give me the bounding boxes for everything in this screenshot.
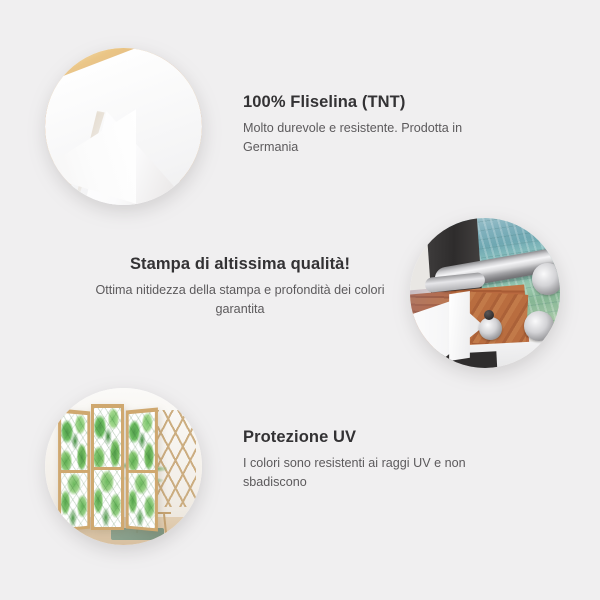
feature-text-fliselina: 100% Fliselina (TNT) Molto durevole e re… bbox=[243, 93, 503, 157]
feature-body: I colori sono resistenti ai raggi UV e n… bbox=[243, 454, 503, 492]
screen-panel-3 bbox=[125, 407, 158, 531]
roller-disc-center bbox=[479, 317, 502, 340]
folding-screen bbox=[58, 404, 158, 530]
roller-disc-bottom bbox=[524, 311, 554, 341]
paper-fold bbox=[449, 291, 470, 361]
feature-list: 100% Fliselina (TNT) Molto durevole e re… bbox=[0, 0, 600, 600]
press-knob bbox=[484, 310, 495, 321]
panel-divider bbox=[94, 467, 121, 470]
feature-heading: Stampa di altissima qualità! bbox=[95, 255, 385, 274]
feature-text-protezione-uv: Protezione UV I colori sono resistenti a… bbox=[243, 428, 503, 492]
roller-disc-top bbox=[532, 263, 561, 295]
screen-panel-2 bbox=[91, 404, 124, 530]
feature-body: Ottima nitidezza della stampa e profondi… bbox=[95, 281, 385, 319]
feature-body: Molto durevole e resistente. Prodotta in… bbox=[243, 119, 503, 157]
feature-image-stampa-qualita bbox=[410, 218, 560, 368]
panel-divider bbox=[61, 470, 88, 473]
feature-text-stampa-qualita: Stampa di altissima qualità! Ottima niti… bbox=[95, 255, 385, 319]
feature-heading: 100% Fliselina (TNT) bbox=[243, 93, 503, 112]
panel-divider bbox=[128, 469, 155, 472]
screen-panel-1 bbox=[58, 408, 91, 531]
feature-image-protezione-uv bbox=[45, 388, 202, 545]
feature-heading: Protezione UV bbox=[243, 428, 503, 447]
feature-image-fliselina bbox=[45, 48, 202, 205]
